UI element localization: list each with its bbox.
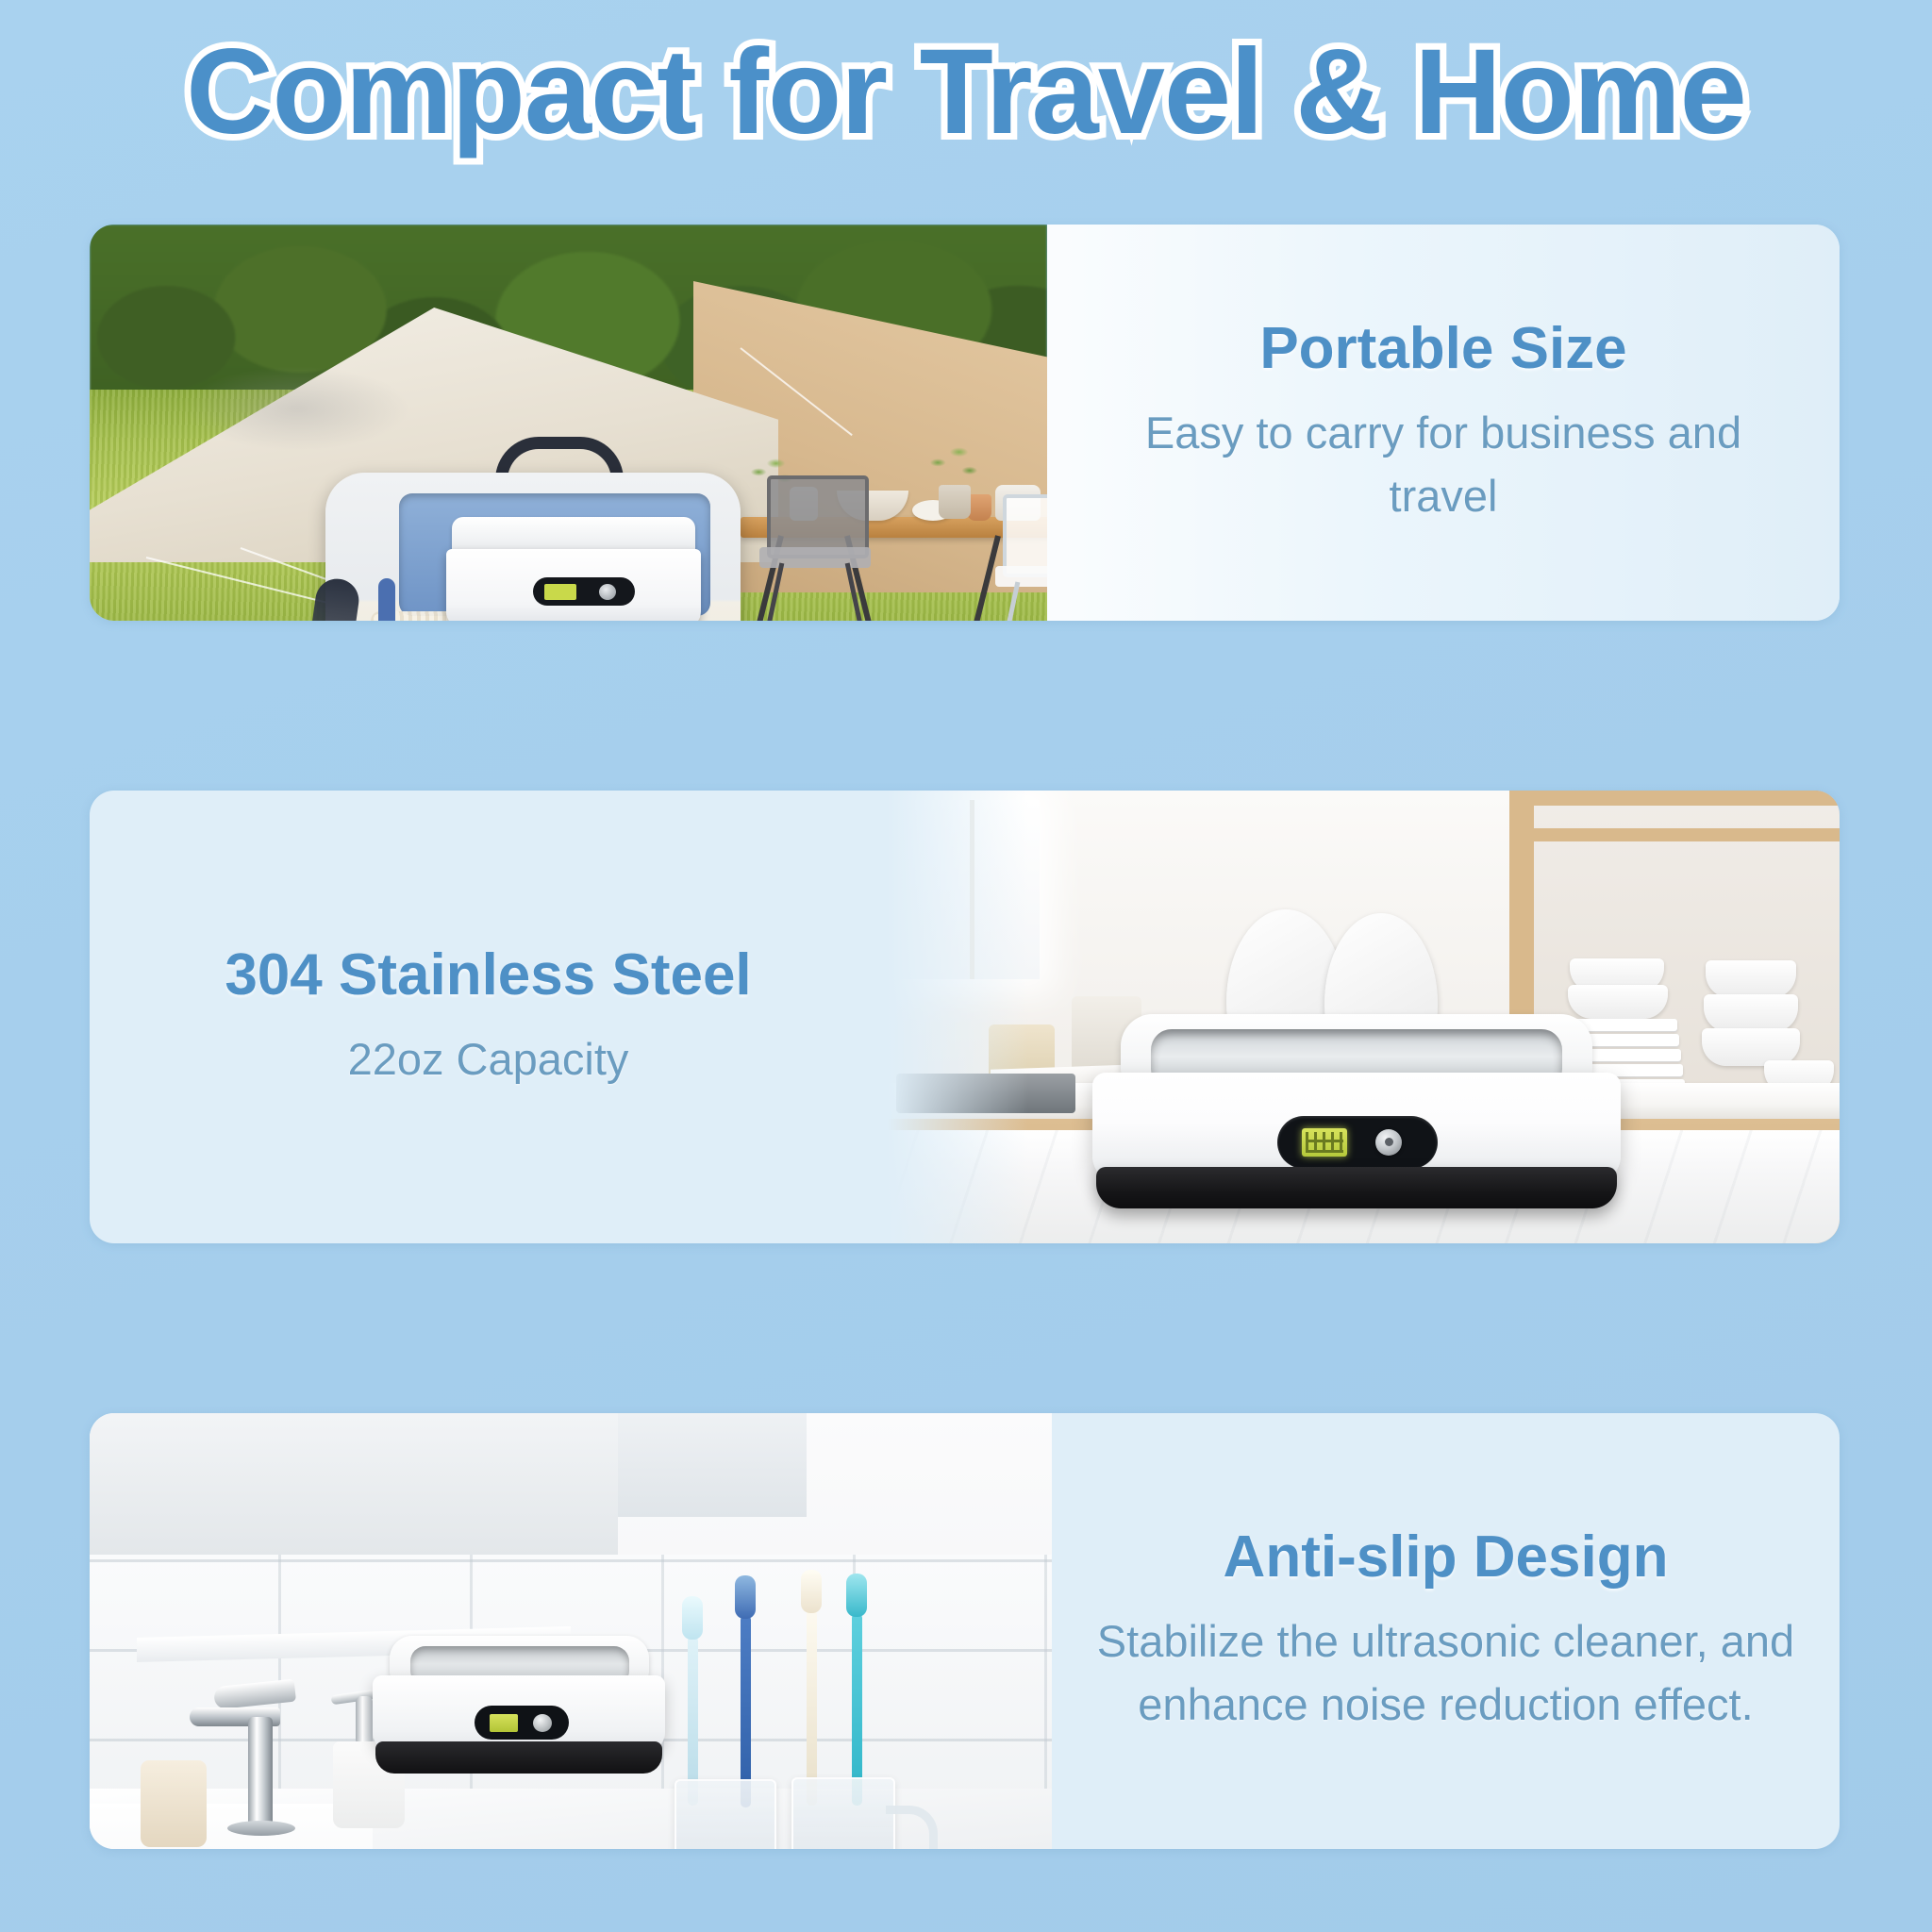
chair-leg <box>762 562 785 621</box>
backpack <box>325 437 741 621</box>
cleaner-antislip-base <box>375 1741 662 1774</box>
toothbrush-bristles <box>801 1570 822 1613</box>
cleaner-power-button[interactable] <box>1375 1129 1402 1156</box>
chair-back <box>1003 494 1047 577</box>
beige-bottle <box>141 1760 207 1847</box>
cleaner-power-button[interactable] <box>533 1714 552 1732</box>
bathroom-mirror-panel <box>618 1413 807 1517</box>
cleaner-control-panel <box>1277 1116 1438 1169</box>
feature-description-portable: Easy to carry for business and travel <box>1047 402 1840 527</box>
faucet-body <box>248 1717 273 1828</box>
camp-chair <box>995 494 1047 621</box>
portable-text-block: Portable Size Easy to carry for business… <box>1047 317 1840 528</box>
feature-title-portable: Portable Size <box>1047 317 1840 381</box>
chair-seat <box>759 547 871 568</box>
steel-text-block: 304 Stainless Steel 22oz Capacity <box>90 943 887 1091</box>
ultrasonic-cleaner-in-bag <box>446 517 701 621</box>
backpack-zipper <box>378 578 395 621</box>
toothbrush-bristles <box>846 1574 867 1617</box>
toothbrush-bristles <box>735 1575 756 1619</box>
camp-chair <box>759 475 873 617</box>
antislip-text-area: Anti-slip Design Stabilize the ultrasoni… <box>1052 1413 1840 1849</box>
feature-title-antislip: Anti-slip Design <box>1052 1525 1840 1590</box>
antislip-text-block: Anti-slip Design Stabilize the ultrasoni… <box>1052 1525 1840 1737</box>
potted-plant <box>927 441 980 494</box>
portable-text-area: Portable Size Easy to carry for business… <box>1047 225 1840 621</box>
cleaner-display <box>1302 1128 1347 1157</box>
chair-leg <box>998 581 1021 621</box>
bathroom-mirror <box>90 1413 618 1561</box>
bathroom-scene-photo <box>90 1413 1052 1849</box>
ultrasonic-cleaner-kitchen <box>1092 1014 1621 1217</box>
feature-panel-antislip: Anti-slip Design Stabilize the ultrasoni… <box>90 1413 1840 1849</box>
feature-panel-steel: 304 Stainless Steel 22oz Capacity <box>90 791 1840 1243</box>
photo-left-fade <box>887 791 1028 1243</box>
toothbrush-bristles <box>682 1596 703 1640</box>
toothbrush-handle <box>807 1609 817 1806</box>
toothbrush-cup-with-handle <box>791 1777 895 1849</box>
soap-dispenser-pump[interactable] <box>356 1696 373 1745</box>
feature-description-antislip: Stabilize the ultrasonic cleaner, and en… <box>1052 1610 1840 1736</box>
steel-text-area: 304 Stainless Steel 22oz Capacity <box>90 791 887 1243</box>
kitchen-shelf-divider <box>1509 828 1840 841</box>
feature-title-steel: 304 Stainless Steel <box>90 943 887 1008</box>
toothbrush-cup <box>675 1779 776 1849</box>
cleaner-display <box>544 584 576 600</box>
faucet-base <box>227 1821 295 1836</box>
cleaner-power-button <box>599 584 616 600</box>
cleaner-control-panel <box>533 577 635 606</box>
kitchen-stacked-bowl <box>1704 994 1798 1032</box>
chair-back <box>767 475 869 558</box>
camping-scene-photo <box>90 225 1047 621</box>
feature-panel-portable: Portable Size Easy to carry for business… <box>90 225 1840 621</box>
cleaner-display <box>490 1714 518 1732</box>
feature-description-steel: 22oz Capacity <box>90 1028 887 1091</box>
chair-leg <box>845 562 868 621</box>
cleaner-antislip-base <box>1096 1167 1617 1208</box>
kitchen-stacked-bowl <box>1706 960 1796 998</box>
chair-seat <box>995 566 1047 587</box>
kitchen-scene-photo <box>887 791 1840 1243</box>
cleaner-control-panel <box>475 1706 569 1740</box>
page-header: Compact for Travel & Home <box>0 17 1932 168</box>
page-title: Compact for Travel & Home <box>186 32 1746 153</box>
ultrasonic-cleaner-bathroom <box>373 1636 665 1787</box>
